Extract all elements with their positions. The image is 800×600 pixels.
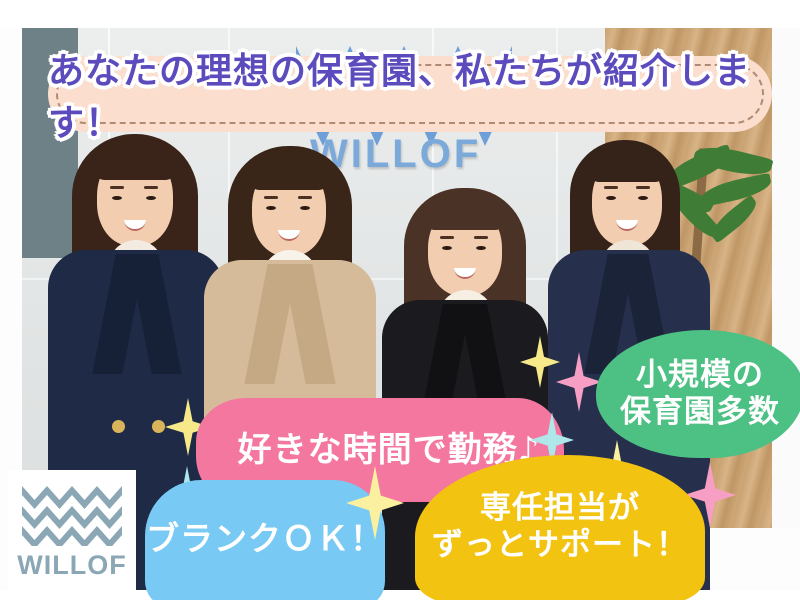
callout-blue-text: ブランクＯＫ！ xyxy=(146,520,384,565)
wall-white-edge-right xyxy=(772,28,800,590)
banner-text: あなたの理想の保育園、私たちが紹介します！ xyxy=(48,56,772,132)
callout-green[interactable]: 小規模の 保育園多数 xyxy=(596,330,800,458)
callout-green-line-2: 保育園多数 xyxy=(620,394,780,430)
callout-yellow-line-1: 専任担当が xyxy=(480,490,640,526)
callout-yellow-text: 専任担当が ずっとサポート！ xyxy=(432,490,688,569)
willof-logo: WILLOF xyxy=(8,470,136,590)
poster-canvas: WILLOF xyxy=(0,0,800,600)
callout-blue[interactable]: ブランクＯＫ！ xyxy=(145,480,385,600)
willof-zigzag-icon xyxy=(22,484,122,551)
callout-green-text: 小規模の 保育園多数 xyxy=(620,357,780,430)
callout-pink-text: 好きな時間で勤務♪ xyxy=(220,430,541,470)
callout-green-line-1: 小規模の xyxy=(636,357,764,393)
callout-yellow-line-2: ずっとサポート！ xyxy=(432,527,688,563)
willof-wordmark: WILLOF xyxy=(8,550,136,581)
headline-banner: あなたの理想の保育園、私たちが紹介します！ xyxy=(48,56,772,132)
